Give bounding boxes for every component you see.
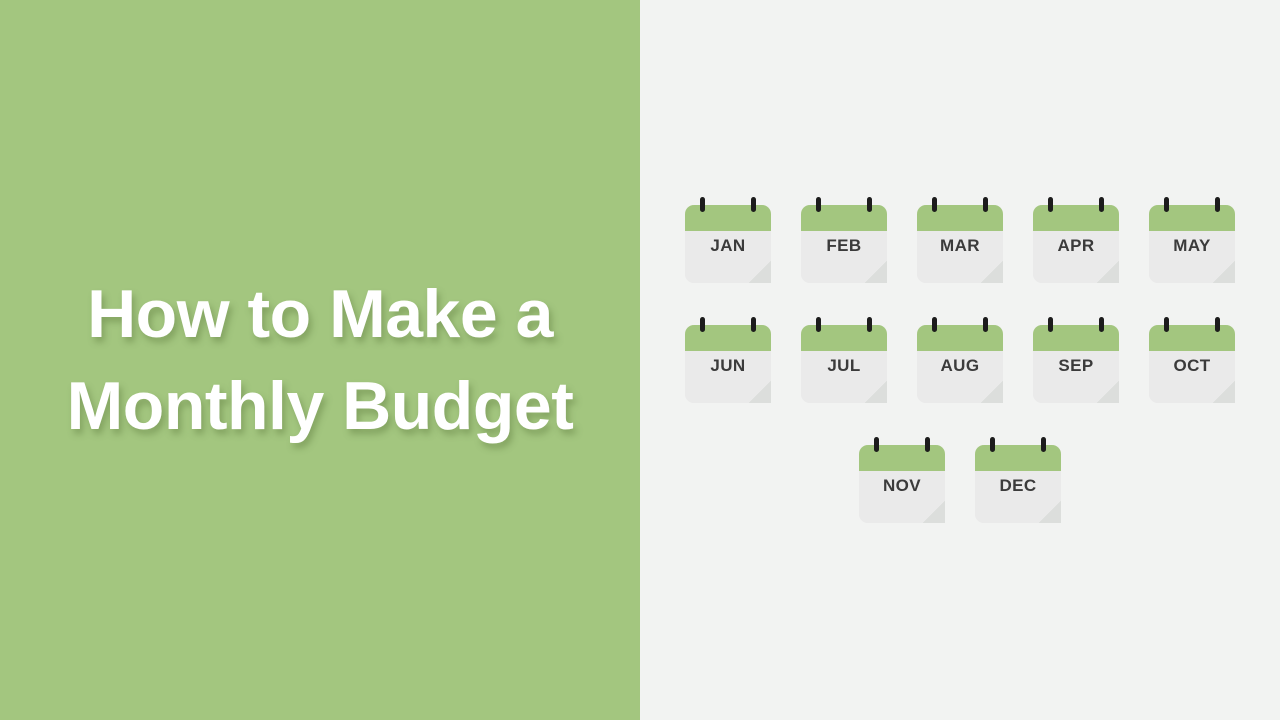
calendar-row: JAN FEB <box>685 197 1235 283</box>
calendar-header <box>859 445 945 471</box>
calendar-icon-nov[interactable]: NOV <box>859 437 945 523</box>
calendar-month-label: OCT <box>1173 357 1210 374</box>
calendar-body: MAR <box>917 231 1003 283</box>
calendar-header <box>801 325 887 351</box>
calendar-header <box>917 205 1003 231</box>
calendar-row: JUN JUL <box>685 317 1235 403</box>
calendar-card: JUN <box>685 325 771 403</box>
calendar-body: NOV <box>859 471 945 523</box>
calendar-header <box>801 205 887 231</box>
calendar-header <box>917 325 1003 351</box>
calendar-month-label: APR <box>1057 237 1094 254</box>
calendar-card: NOV <box>859 445 945 523</box>
calendar-card: FEB <box>801 205 887 283</box>
calendar-body: SEP <box>1033 351 1119 403</box>
title-panel: How to Make a Monthly Budget <box>0 0 640 720</box>
calendar-icon-jul[interactable]: JUL <box>801 317 887 403</box>
calendar-row: NOV DEC <box>859 437 1061 523</box>
calendar-month-label: AUG <box>941 357 980 374</box>
calendar-icon-jun[interactable]: JUN <box>685 317 771 403</box>
calendar-body: AUG <box>917 351 1003 403</box>
page-title: How to Make a Monthly Budget <box>0 268 640 453</box>
calendar-month-label: DEC <box>999 477 1036 494</box>
calendar-body: JAN <box>685 231 771 283</box>
calendar-icon-may[interactable]: MAY <box>1149 197 1235 283</box>
calendar-header <box>685 205 771 231</box>
calendar-icon-dec[interactable]: DEC <box>975 437 1061 523</box>
poster-canvas: How to Make a Monthly Budget JAN <box>0 0 1280 720</box>
calendar-icon-oct[interactable]: OCT <box>1149 317 1235 403</box>
calendar-body: MAY <box>1149 231 1235 283</box>
calendar-month-label: JAN <box>710 237 745 254</box>
calendar-month-label: NOV <box>883 477 921 494</box>
calendar-icon-apr[interactable]: APR <box>1033 197 1119 283</box>
calendar-card: SEP <box>1033 325 1119 403</box>
calendar-card: OCT <box>1149 325 1235 403</box>
calendar-header <box>1149 205 1235 231</box>
calendar-month-label: MAY <box>1173 237 1210 254</box>
calendar-body: JUL <box>801 351 887 403</box>
calendar-body: FEB <box>801 231 887 283</box>
calendar-month-label: JUN <box>710 357 745 374</box>
calendar-icon-mar[interactable]: MAR <box>917 197 1003 283</box>
calendar-panel: JAN FEB <box>640 0 1280 720</box>
calendar-month-label: FEB <box>826 237 861 254</box>
calendar-header <box>1149 325 1235 351</box>
calendar-card: APR <box>1033 205 1119 283</box>
calendar-icon-feb[interactable]: FEB <box>801 197 887 283</box>
calendar-month-label: JUL <box>827 357 860 374</box>
calendar-icon-aug[interactable]: AUG <box>917 317 1003 403</box>
calendar-body: APR <box>1033 231 1119 283</box>
title-line-2: Monthly Budget <box>34 360 606 452</box>
calendar-grid: JAN FEB <box>640 0 1280 720</box>
title-line-1: How to Make a <box>34 268 606 360</box>
calendar-header <box>1033 325 1119 351</box>
calendar-body: OCT <box>1149 351 1235 403</box>
calendar-header <box>975 445 1061 471</box>
calendar-month-label: MAR <box>940 237 980 254</box>
calendar-icon-sep[interactable]: SEP <box>1033 317 1119 403</box>
calendar-body: DEC <box>975 471 1061 523</box>
calendar-card: AUG <box>917 325 1003 403</box>
calendar-header <box>1033 205 1119 231</box>
calendar-card: DEC <box>975 445 1061 523</box>
calendar-icon-jan[interactable]: JAN <box>685 197 771 283</box>
calendar-month-label: SEP <box>1058 357 1093 374</box>
calendar-card: MAR <box>917 205 1003 283</box>
calendar-card: JUL <box>801 325 887 403</box>
calendar-header <box>685 325 771 351</box>
calendar-body: JUN <box>685 351 771 403</box>
calendar-card: JAN <box>685 205 771 283</box>
calendar-card: MAY <box>1149 205 1235 283</box>
